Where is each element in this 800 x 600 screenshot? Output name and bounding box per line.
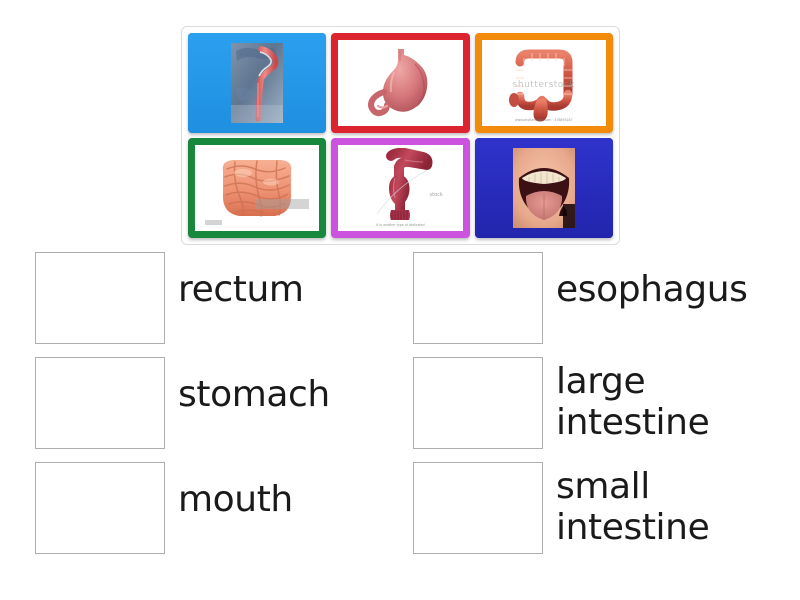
answer-row-stomach: stomach [35, 357, 415, 462]
small-intestine-image [195, 145, 319, 231]
drop-zone-stomach[interactable] [35, 357, 165, 449]
answer-row-large-intestine: large intestine [413, 357, 793, 462]
drop-zone-large-intestine[interactable] [413, 357, 543, 449]
drop-zone-mouth[interactable] [35, 462, 165, 554]
draggable-tile-mouth[interactable] [475, 138, 613, 238]
answer-area: rectum stomach mouth esophagus large int… [0, 252, 800, 592]
answer-row-mouth: mouth [35, 462, 415, 567]
esophagus-illustration [231, 43, 283, 123]
large-intestine-illustration [498, 44, 590, 122]
mouth-image [475, 138, 613, 238]
answer-label-large-intestine: large intestine [556, 357, 791, 443]
image-tile-grid: shutterstock www.shutterstock.com · 4788… [188, 33, 613, 238]
draggable-image-tray: shutterstock www.shutterstock.com · 4788… [181, 26, 620, 245]
mouth-illustration [513, 148, 575, 228]
large-intestine-image: shutterstock www.shutterstock.com · 4788… [482, 40, 606, 126]
watermark-bar [255, 199, 310, 208]
answer-label-esophagus: esophagus [556, 252, 747, 310]
drop-zone-esophagus[interactable] [413, 252, 543, 344]
answer-label-stomach: stomach [178, 357, 330, 415]
stomach-illustration [357, 46, 443, 120]
draggable-tile-rectum[interactable]: stock It is another type of dedicated [331, 138, 469, 238]
draggable-tile-large-intestine[interactable]: shutterstock www.shutterstock.com · 4788… [475, 33, 613, 133]
answer-label-mouth: mouth [178, 462, 293, 520]
rectum-image: stock It is another type of dedicated [338, 145, 462, 231]
answer-label-rectum: rectum [178, 252, 304, 310]
answer-row-rectum: rectum [35, 252, 415, 357]
answer-column-left: rectum stomach mouth [35, 252, 415, 567]
draggable-tile-small-intestine[interactable] [188, 138, 326, 238]
esophagus-image [188, 33, 326, 133]
watermark-bar-secondary [205, 220, 222, 225]
rectum-illustration [365, 148, 435, 228]
draggable-tile-esophagus[interactable] [188, 33, 326, 133]
answer-row-esophagus: esophagus [413, 252, 793, 357]
drop-zone-rectum[interactable] [35, 252, 165, 344]
draggable-tile-stomach[interactable] [331, 33, 469, 133]
answer-label-small-intestine: small intestine [556, 462, 791, 548]
answer-row-small-intestine: small intestine [413, 462, 793, 567]
stomach-image [338, 40, 462, 126]
small-intestine-illustration [213, 157, 301, 219]
drop-zone-small-intestine[interactable] [413, 462, 543, 554]
answer-column-right: esophagus large intestine small intestin… [413, 252, 793, 567]
